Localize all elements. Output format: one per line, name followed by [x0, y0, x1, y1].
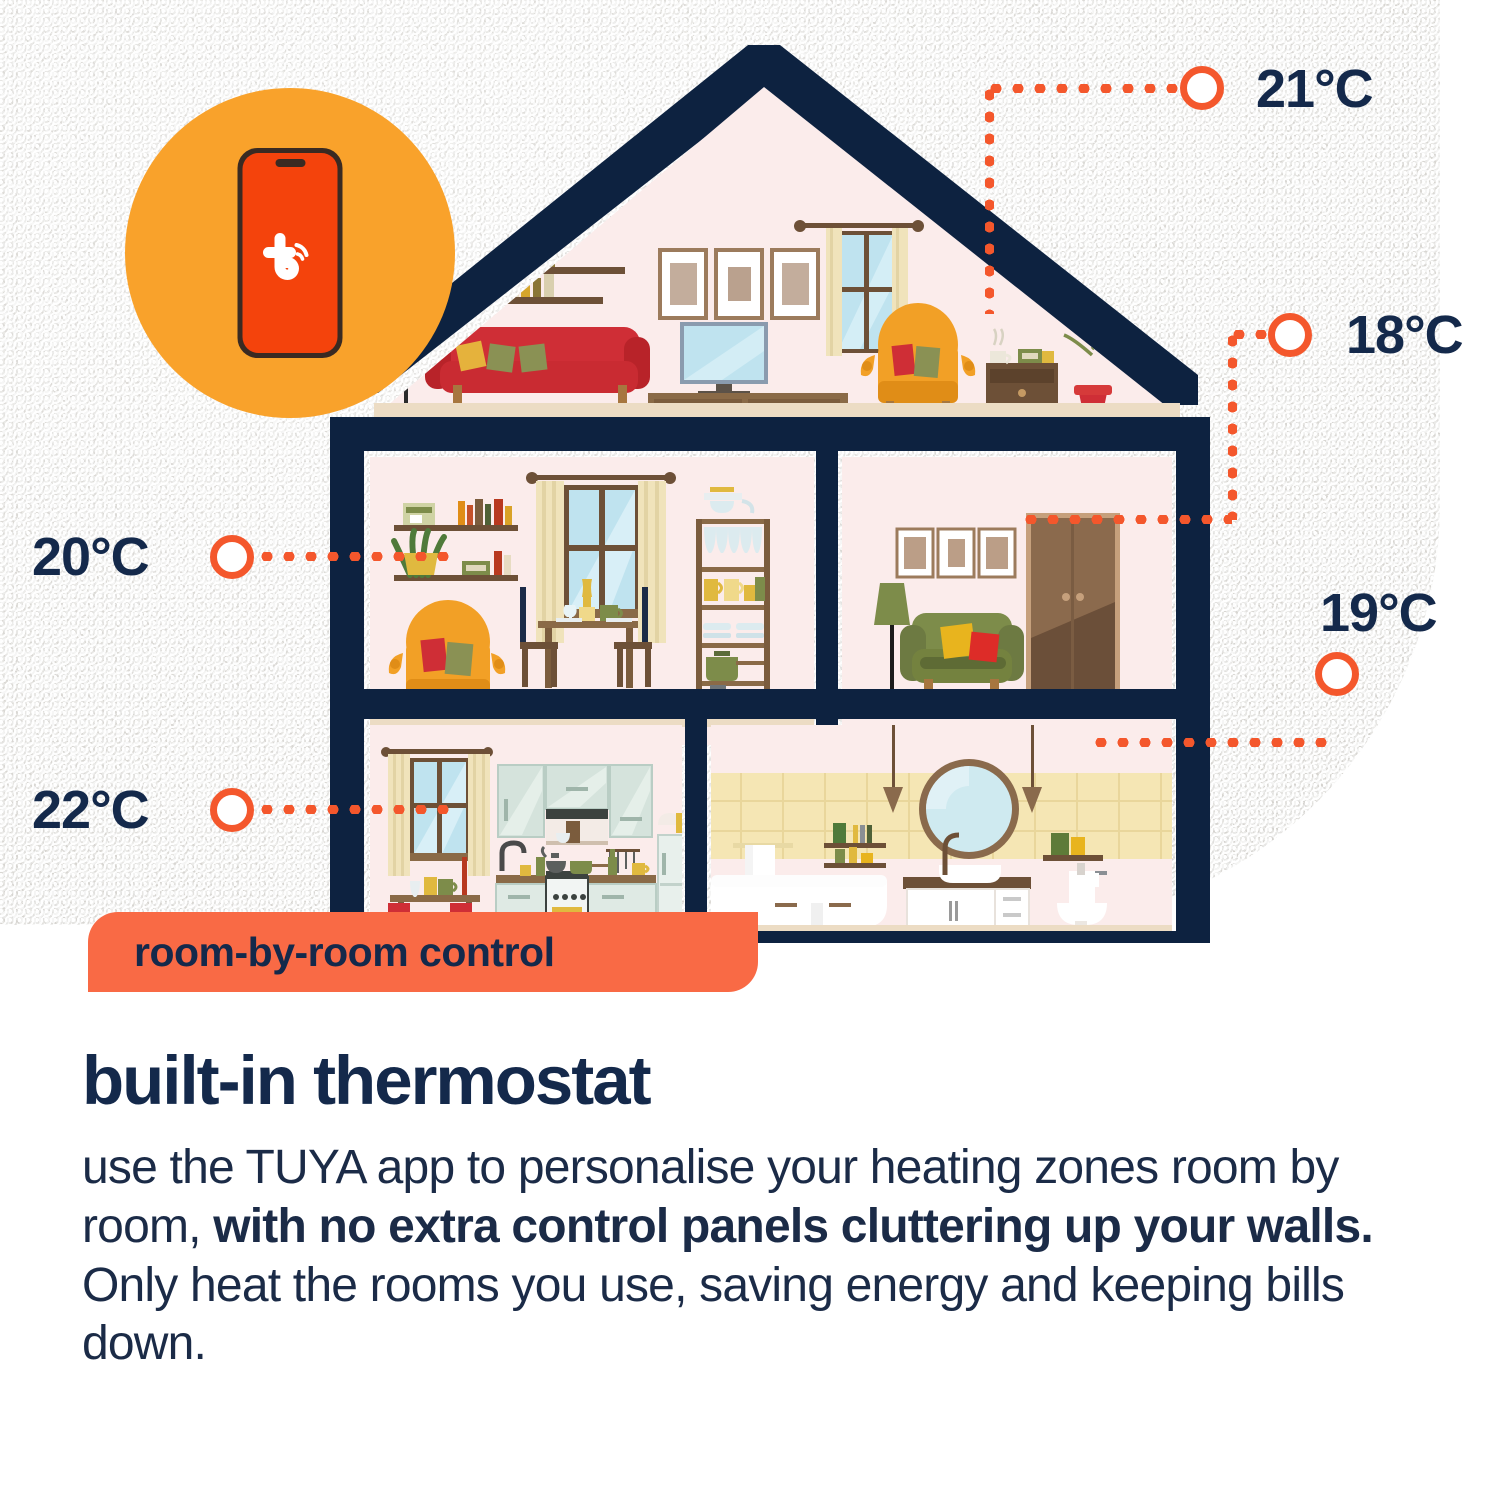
copy-block: built-in thermostat use the TUYA app to …: [82, 1045, 1432, 1374]
room-by-room-badge: room-by-room control: [88, 912, 758, 992]
temperature-marker-22c[interactable]: [210, 788, 254, 832]
phone-notch: [275, 159, 305, 167]
exterior-wall-left-ground: [330, 719, 364, 934]
tuya-app-logo-icon: [258, 227, 322, 287]
temperature-marker-20c[interactable]: [210, 535, 254, 579]
page-title: built-in thermostat: [82, 1045, 1432, 1117]
house-cutaway-illustration: [330, 45, 1210, 925]
connector-20c-horizontal: [256, 552, 456, 561]
temperature-label-19c: 19°C: [1320, 582, 1437, 644]
body-text-bold: with no extra control panels cluttering …: [213, 1200, 1373, 1253]
connector-18c-vertical: [1228, 330, 1237, 520]
temperature-marker-18c[interactable]: [1268, 313, 1312, 357]
body-copy: use the TUYA app to personalise your hea…: [82, 1139, 1427, 1373]
connector-21c-horizontal: [985, 84, 1180, 93]
kitchen: [370, 725, 682, 935]
phone-screen: [243, 153, 338, 353]
floor-divider-lower: [330, 689, 1210, 719]
connector-21c-vertical: [985, 84, 994, 314]
attic-floor: [374, 403, 1180, 417]
connector-18c-horizontal-bottom: [1020, 515, 1232, 524]
exterior-wall-right-ground: [1176, 719, 1210, 934]
smartphone-mockup[interactable]: [238, 148, 343, 358]
temperature-label-22c: 22°C: [32, 779, 149, 841]
badge-label: room-by-room control: [88, 929, 554, 976]
app-highlight-bubble: [125, 88, 455, 418]
temperature-marker-21c[interactable]: [1180, 66, 1224, 110]
floor-divider-upper: [330, 417, 1210, 451]
connector-22c-horizontal: [256, 805, 456, 814]
temperature-label-18c: 18°C: [1346, 304, 1463, 366]
connector-19c-horizontal: [1090, 738, 1336, 747]
interior-wall-ground: [685, 719, 707, 934]
bathroom: [711, 725, 1172, 935]
temperature-label-21c: 21°C: [1256, 58, 1373, 120]
temperature-marker-19c[interactable]: [1315, 652, 1359, 696]
attic-room: [330, 45, 1210, 405]
temperature-label-20c: 20°C: [32, 526, 149, 588]
body-text-part2: Only heat the rooms you use, saving ener…: [82, 1259, 1344, 1371]
